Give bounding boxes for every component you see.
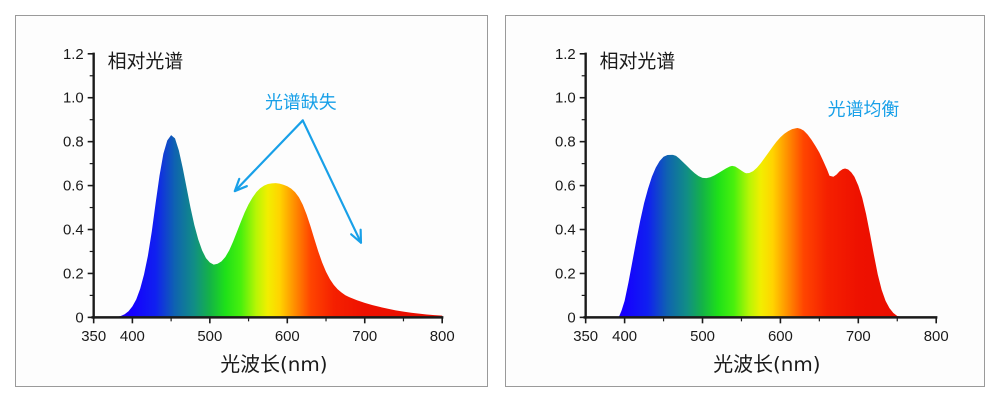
x-tick-label: 800 xyxy=(430,328,455,345)
spectrum-balanced-panel: 35040050060070080000.20.40.60.81.01.2相对光… xyxy=(505,15,985,387)
y-tick-label: 0.6 xyxy=(63,178,84,195)
y-tick-label: 0.2 xyxy=(63,265,84,282)
y-tick-label: 0.4 xyxy=(63,221,84,238)
x-tick-label: 800 xyxy=(924,328,949,345)
annotation-arrow-line-1 xyxy=(235,120,303,191)
annotation-label: 光谱缺失 xyxy=(265,93,337,114)
y-tick-label: 1.0 xyxy=(555,90,576,107)
spectrum-balanced-chart: 35040050060070080000.20.40.60.81.01.2相对光… xyxy=(506,16,984,386)
y-tick-label: 0 xyxy=(75,309,83,326)
annotation-label: 光谱均衡 xyxy=(828,99,900,120)
x-tick-label: 700 xyxy=(352,328,377,345)
spectrum-deficient-chart: 35040050060070080000.20.40.60.81.01.2相对光… xyxy=(16,16,487,386)
y-tick-label: 0.6 xyxy=(555,178,576,195)
x-axis-title: 光波长(nm) xyxy=(713,353,820,376)
y-tick-label: 1.0 xyxy=(63,90,84,107)
x-axis-title: 光波长(nm) xyxy=(220,353,327,376)
annotation-arrow-line-2 xyxy=(303,120,361,242)
x-tick-label: 500 xyxy=(690,328,715,345)
y-tick-label: 1.2 xyxy=(555,46,576,63)
spectrum-comparison-figure: 35040050060070080000.20.40.60.81.01.2相对光… xyxy=(0,0,1000,401)
x-tick-label: 350 xyxy=(81,328,106,345)
spectral-power-area xyxy=(586,128,937,317)
y-tick-label: 0.2 xyxy=(555,265,576,282)
y-tick-label: 0.8 xyxy=(555,134,576,151)
y-tick-label: 1.2 xyxy=(63,46,84,63)
chart-title: 相对光谱 xyxy=(108,51,184,73)
spectrum-deficient-panel: 35040050060070080000.20.40.60.81.01.2相对光… xyxy=(15,15,488,387)
chart-title: 相对光谱 xyxy=(600,51,676,73)
x-tick-label: 350 xyxy=(573,328,598,345)
x-tick-label: 600 xyxy=(275,328,300,345)
x-tick-label: 500 xyxy=(197,328,222,345)
y-tick-label: 0.4 xyxy=(555,221,576,238)
y-tick-label: 0 xyxy=(567,309,575,326)
x-tick-label: 400 xyxy=(612,328,637,345)
x-tick-label: 400 xyxy=(120,328,145,345)
y-tick-label: 0.8 xyxy=(63,134,84,151)
x-tick-label: 600 xyxy=(768,328,793,345)
spectral-power-area xyxy=(94,135,443,317)
x-tick-label: 700 xyxy=(846,328,871,345)
